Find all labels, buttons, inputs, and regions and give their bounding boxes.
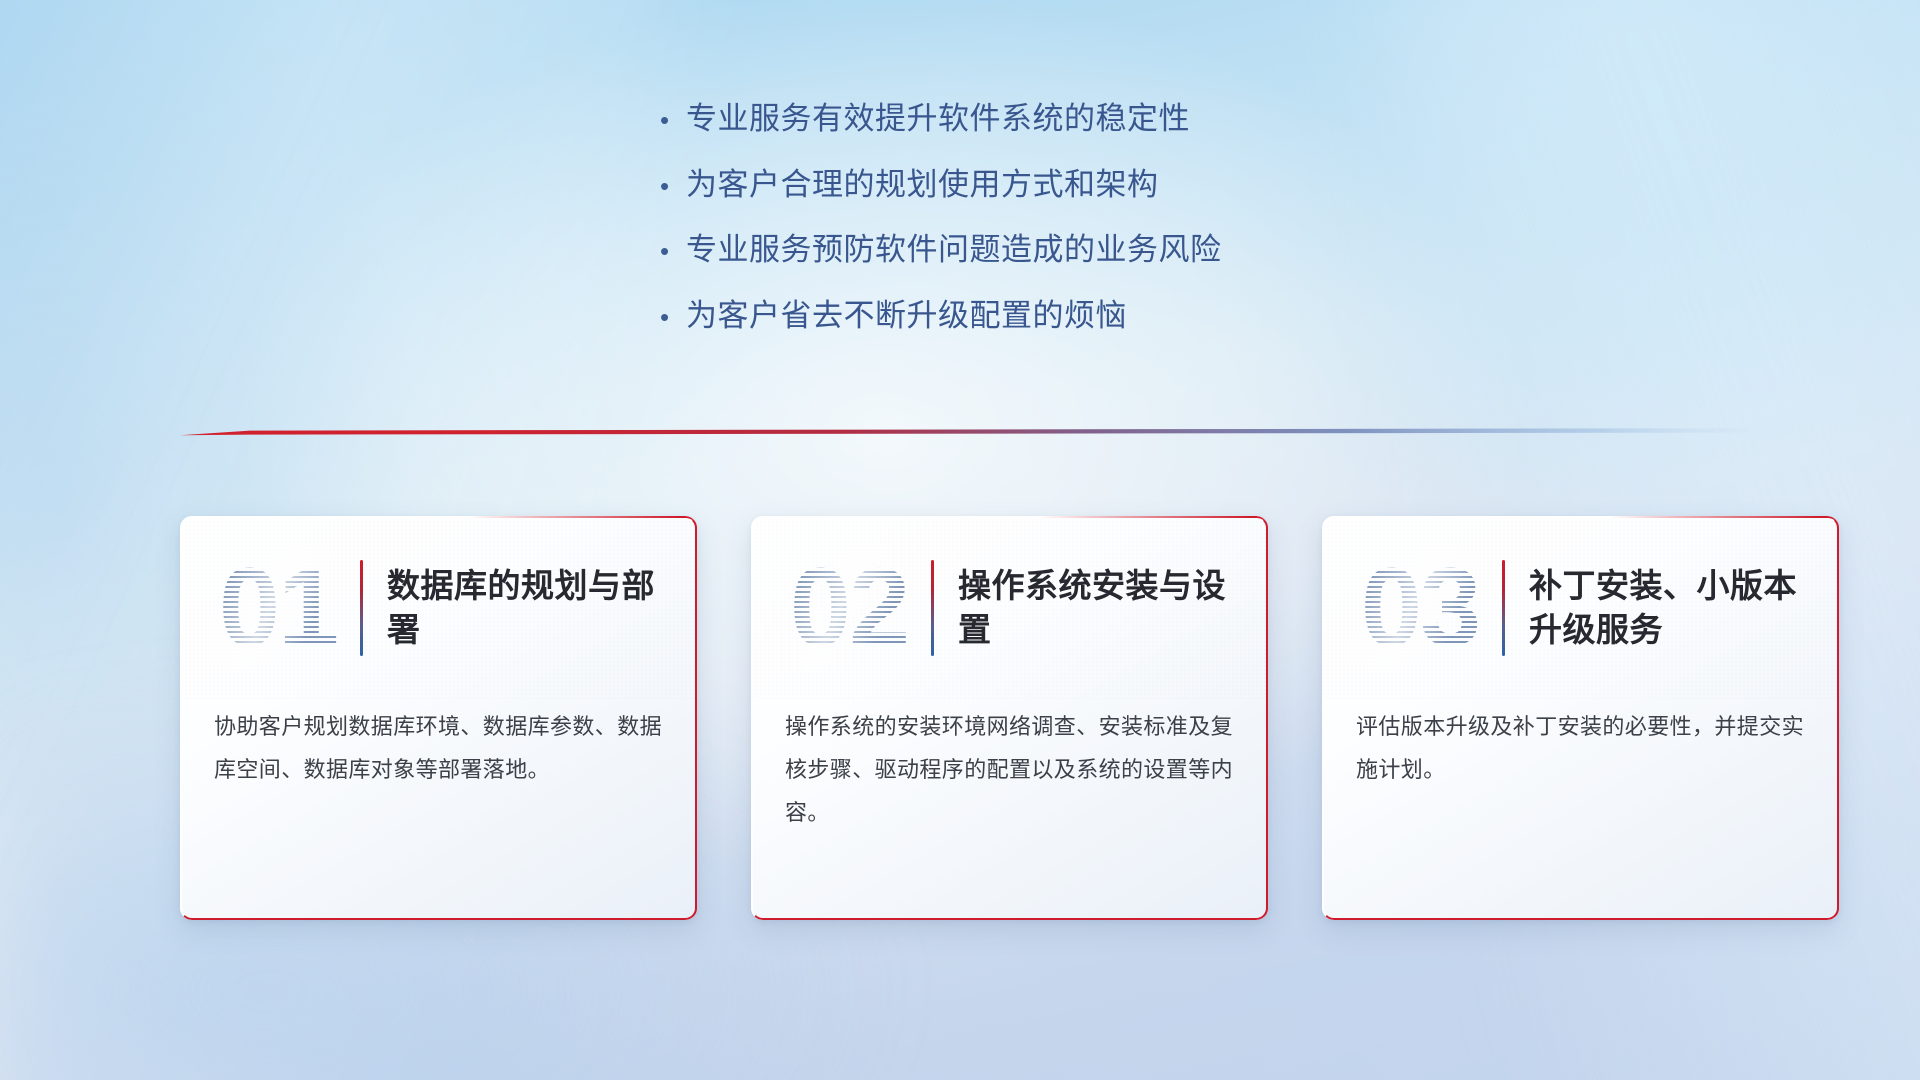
divider-shape bbox=[180, 424, 1750, 440]
bullet-text-3: 专业服务预防软件问题造成的业务风险 bbox=[686, 229, 1222, 271]
slide-canvas: • 专业服务有效提升软件系统的稳定性 • 为客户合理的规划使用方式和架构 • 专… bbox=[0, 0, 1920, 1080]
card-header: 02 操作系统安装与设置 bbox=[751, 516, 1268, 700]
card-accent-bar bbox=[1502, 560, 1505, 656]
card-title: 数据库的规划与部署 bbox=[387, 564, 659, 652]
list-item: • 专业服务有效提升软件系统的稳定性 bbox=[660, 98, 1420, 140]
section-divider bbox=[180, 424, 1750, 440]
card-body-text: 操作系统的安装环境网络调查、安装标准及复核步骤、驱动程序的配置以及系统的设置等内… bbox=[751, 700, 1268, 835]
list-item: • 专业服务预防软件问题造成的业务风险 bbox=[660, 229, 1420, 271]
bullet-dot-icon: • bbox=[660, 173, 686, 199]
benefits-bullet-list: • 专业服务有效提升软件系统的稳定性 • 为客户合理的规划使用方式和架构 • 专… bbox=[660, 98, 1420, 360]
card-number-watermark: 01 bbox=[202, 546, 354, 670]
card-title: 操作系统安装与设置 bbox=[958, 564, 1230, 652]
card-accent-bar bbox=[931, 560, 934, 656]
card-number-watermark: 03 bbox=[1344, 546, 1496, 670]
bullet-text-1: 专业服务有效提升软件系统的稳定性 bbox=[686, 98, 1190, 140]
bullet-text-4: 为客户省去不断升级配置的烦恼 bbox=[686, 295, 1127, 337]
bullet-dot-icon: • bbox=[660, 238, 686, 264]
card-number-text: 01 bbox=[202, 546, 354, 670]
bullet-dot-icon: • bbox=[660, 107, 686, 133]
list-item: • 为客户省去不断升级配置的烦恼 bbox=[660, 295, 1420, 337]
service-card-row: 01 数据库的规划与部署 协助客户规划数据库环境、数据库参数、数据库空间、数据库… bbox=[180, 516, 1840, 920]
card-header: 01 数据库的规划与部署 bbox=[180, 516, 697, 700]
list-item: • 为客户合理的规划使用方式和架构 bbox=[660, 164, 1420, 206]
service-card-03[interactable]: 03 补丁安装、小版本升级服务 评估版本升级及补丁安装的必要性，并提交实施计划。 bbox=[1322, 516, 1839, 920]
card-accent-bar bbox=[360, 560, 363, 656]
card-number-text: 02 bbox=[773, 546, 925, 670]
card-number-text: 03 bbox=[1344, 546, 1496, 670]
bullet-dot-icon: • bbox=[660, 304, 686, 330]
card-body-text: 协助客户规划数据库环境、数据库参数、数据库空间、数据库对象等部署落地。 bbox=[180, 700, 697, 792]
card-title: 补丁安装、小版本升级服务 bbox=[1529, 564, 1801, 652]
card-body-text: 评估版本升级及补丁安装的必要性，并提交实施计划。 bbox=[1322, 700, 1839, 792]
service-card-01[interactable]: 01 数据库的规划与部署 协助客户规划数据库环境、数据库参数、数据库空间、数据库… bbox=[180, 516, 697, 920]
service-card-02[interactable]: 02 操作系统安装与设置 操作系统的安装环境网络调查、安装标准及复核步骤、驱动程… bbox=[751, 516, 1268, 920]
card-header: 03 补丁安装、小版本升级服务 bbox=[1322, 516, 1839, 700]
bullet-text-2: 为客户合理的规划使用方式和架构 bbox=[686, 164, 1159, 206]
card-number-watermark: 02 bbox=[773, 546, 925, 670]
